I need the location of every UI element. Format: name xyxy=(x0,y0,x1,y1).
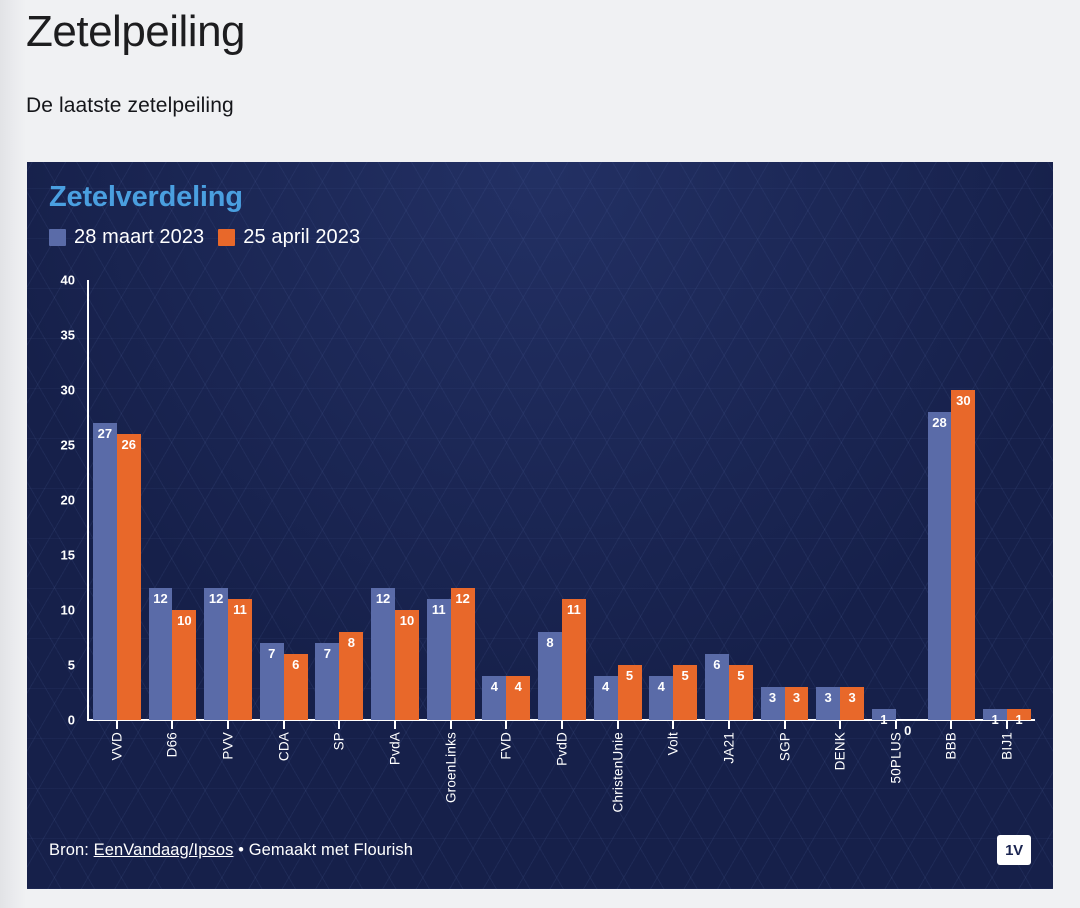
bar-series2[interactable]: 30 xyxy=(951,390,975,720)
x-axis-category-label: SGP xyxy=(777,732,792,761)
bar-value-label: 3 xyxy=(825,691,832,704)
x-axis-category-label: PVV xyxy=(221,732,236,760)
x-axis-category-label: VVD xyxy=(109,732,124,760)
bar-value-label: 11 xyxy=(432,603,446,616)
bar-group[interactable]: 33 xyxy=(812,280,868,720)
bar-series2[interactable]: 3 xyxy=(840,687,864,720)
bar-series1[interactable]: 7 xyxy=(315,643,339,720)
bar-value-label: 3 xyxy=(793,691,800,704)
x-axis-category-label: PvdD xyxy=(554,732,569,766)
brand-badge-1v: 1V xyxy=(997,835,1031,865)
page-title: Zetelpeiling xyxy=(26,6,1080,58)
chart-title: Zetelverdeling xyxy=(49,182,1031,214)
x-tick-mark xyxy=(839,721,841,729)
bar-series2[interactable]: 10 xyxy=(395,610,419,720)
x-tick-mark xyxy=(728,721,730,729)
bar-group[interactable]: 811 xyxy=(534,280,590,720)
bar-value-label: 6 xyxy=(292,658,299,671)
bar-series2[interactable]: 3 xyxy=(785,687,809,720)
bar-value-label: 12 xyxy=(455,592,469,605)
bar-value-label: 3 xyxy=(769,691,776,704)
bar-series1[interactable]: 4 xyxy=(649,676,673,720)
bar-series1[interactable]: 3 xyxy=(761,687,785,720)
x-tick xyxy=(979,721,1035,729)
x-tick-mark xyxy=(950,721,952,729)
x-axis-category-label: 50PLUS xyxy=(888,732,903,783)
bar-value-label: 5 xyxy=(682,669,689,682)
bar-value-label: 5 xyxy=(737,669,744,682)
bar-series1[interactable]: 12 xyxy=(204,588,228,720)
x-tick xyxy=(701,721,757,729)
bar-value-label: 12 xyxy=(209,592,223,605)
bar-series1[interactable]: 3 xyxy=(816,687,840,720)
x-axis-category-label: PvdA xyxy=(388,732,403,765)
y-axis: 4035302520151050 xyxy=(49,280,81,720)
bar-value-label: 5 xyxy=(626,669,633,682)
x-tick xyxy=(423,721,479,729)
bar-group[interactable]: 2726 xyxy=(89,280,145,720)
x-tick-mark xyxy=(227,721,229,729)
bar-value-label: 12 xyxy=(376,592,390,605)
x-axis-category-label: SP xyxy=(332,732,347,750)
x-tick-mark xyxy=(1006,721,1008,729)
y-axis-tick-label: 20 xyxy=(61,493,75,508)
x-axis-category-label: BIJ1 xyxy=(1000,732,1015,760)
bars-container: 2726121012117678121011124481145456533331… xyxy=(89,280,1035,720)
chart-legend: 28 maart 2023 25 april 2023 xyxy=(49,226,1031,249)
bar-value-label: 8 xyxy=(546,636,553,649)
x-tick-mark xyxy=(116,721,118,729)
bar-value-label: 7 xyxy=(324,647,331,660)
x-tick xyxy=(757,721,813,729)
bar-value-label: 11 xyxy=(233,603,247,616)
x-tick-mark xyxy=(338,721,340,729)
x-axis-category-label: BBB xyxy=(944,732,959,760)
x-tick xyxy=(89,721,145,729)
bar-series2[interactable]: 11 xyxy=(228,599,252,720)
bar-group[interactable]: 1112 xyxy=(423,280,479,720)
bar-series1[interactable]: 4 xyxy=(482,676,506,720)
y-axis-tick-label: 35 xyxy=(61,328,75,343)
x-tick-mark xyxy=(394,721,396,729)
legend-label-series2: 25 april 2023 xyxy=(243,226,360,249)
chart-card: Zetelverdeling 28 maart 2023 25 april 20… xyxy=(27,162,1053,889)
x-tick-mark xyxy=(617,721,619,729)
bar-value-label: 4 xyxy=(491,680,498,693)
bar-value-label: 10 xyxy=(177,614,191,627)
chart-source: Bron: EenVandaag/Ipsos • Gemaakt met Flo… xyxy=(49,841,413,860)
bar-value-label: 10 xyxy=(400,614,414,627)
legend-swatch-series2 xyxy=(218,229,235,246)
bar-series2[interactable]: 5 xyxy=(618,665,642,720)
bar-series2[interactable]: 12 xyxy=(451,588,475,720)
x-tick xyxy=(367,721,423,729)
bar-group[interactable]: 1210 xyxy=(367,280,423,720)
x-tick xyxy=(478,721,534,729)
bar-series2[interactable]: 26 xyxy=(117,434,141,720)
bar-value-label: 3 xyxy=(848,691,855,704)
bar-series2[interactable]: 10 xyxy=(172,610,196,720)
bar-value-label: 4 xyxy=(602,680,609,693)
bar-series2[interactable]: 5 xyxy=(729,665,753,720)
bar-value-label: 11 xyxy=(567,603,581,616)
bar-group[interactable]: 45 xyxy=(590,280,646,720)
bar-series2[interactable]: 6 xyxy=(284,654,308,720)
source-prefix: Bron: xyxy=(49,841,94,859)
bar-value-label: 26 xyxy=(122,438,136,451)
bar-value-label: 27 xyxy=(98,427,112,440)
bar-series1[interactable]: 27 xyxy=(93,423,117,720)
x-tick-mark xyxy=(895,721,897,729)
bar-series1[interactable]: 1 xyxy=(983,709,1007,720)
bar-group[interactable]: 1211 xyxy=(200,280,256,720)
bar-group[interactable]: 33 xyxy=(757,280,813,720)
x-tick-mark xyxy=(784,721,786,729)
source-link[interactable]: EenVandaag/Ipsos xyxy=(94,841,234,859)
plot-area-wrapper: 4035302520151050 27261210121176781210111… xyxy=(49,280,1041,880)
x-axis-category-label: Volt xyxy=(666,732,681,755)
bar-series1[interactable]: 11 xyxy=(427,599,451,720)
page-subtitle: De laatste zetelpeiling xyxy=(26,94,1080,118)
bar-value-label: 28 xyxy=(932,416,946,429)
x-tick-mark xyxy=(505,721,507,729)
bar-value-label: 4 xyxy=(515,680,522,693)
bar-group[interactable]: 65 xyxy=(701,280,757,720)
legend-label-series1: 28 maart 2023 xyxy=(74,226,204,249)
bar-series2[interactable]: 1 xyxy=(1007,709,1031,720)
x-axis-category-label: D66 xyxy=(165,732,180,757)
x-tick xyxy=(924,721,980,729)
x-tick-mark xyxy=(672,721,674,729)
legend-swatch-series1 xyxy=(49,229,66,246)
bar-group[interactable]: 45 xyxy=(645,280,701,720)
x-tick xyxy=(590,721,646,729)
y-axis-tick-label: 5 xyxy=(68,658,75,673)
bar-series2[interactable]: 5 xyxy=(673,665,697,720)
chart-footer: Bron: EenVandaag/Ipsos • Gemaakt met Flo… xyxy=(49,835,1031,865)
bar-series1[interactable]: 8 xyxy=(538,632,562,720)
x-tick xyxy=(145,721,201,729)
y-axis-tick-label: 0 xyxy=(68,713,75,728)
bar-value-label: 12 xyxy=(153,592,167,605)
x-tick xyxy=(812,721,868,729)
bar-group[interactable]: 2830 xyxy=(924,280,980,720)
x-axis-category-label: CDA xyxy=(276,732,291,761)
x-tick-mark xyxy=(561,721,563,729)
bar-group[interactable]: 76 xyxy=(256,280,312,720)
x-tick xyxy=(256,721,312,729)
bar-series1[interactable]: 12 xyxy=(149,588,173,720)
x-tick-marks xyxy=(89,721,1035,729)
bar-group[interactable]: 78 xyxy=(312,280,368,720)
x-axis-category-label: ChristenUnie xyxy=(610,732,625,812)
bar-value-label: 4 xyxy=(658,680,665,693)
x-tick-mark xyxy=(450,721,452,729)
x-axis-category-label: JA21 xyxy=(721,732,736,764)
y-axis-tick-label: 25 xyxy=(61,438,75,453)
source-suffix: • Gemaakt met Flourish xyxy=(233,841,413,859)
y-axis-tick-label: 40 xyxy=(61,273,75,288)
bar-group[interactable]: 44 xyxy=(478,280,534,720)
x-tick-mark xyxy=(283,721,285,729)
bar-series1[interactable]: 12 xyxy=(371,588,395,720)
legend-item-series2[interactable]: 25 april 2023 xyxy=(218,226,360,249)
y-axis-tick-label: 15 xyxy=(61,548,75,563)
bar-series1[interactable]: 1 xyxy=(872,709,896,720)
bar-series1[interactable]: 28 xyxy=(928,412,952,720)
bar-series2[interactable]: 11 xyxy=(562,599,586,720)
page-header: Zetelpeiling De laatste zetelpeiling xyxy=(0,0,1080,118)
bar-group[interactable]: 10 xyxy=(868,280,924,720)
x-tick xyxy=(868,721,924,729)
bar-series2[interactable]: 4 xyxy=(506,676,530,720)
y-axis-tick-label: 30 xyxy=(61,383,75,398)
legend-item-series1[interactable]: 28 maart 2023 xyxy=(49,226,204,249)
bar-group[interactable]: 1210 xyxy=(145,280,201,720)
bar-value-label: 7 xyxy=(268,647,275,660)
page-left-edge-shadow xyxy=(0,0,26,908)
y-axis-tick-label: 10 xyxy=(61,603,75,618)
bar-value-label: 6 xyxy=(713,658,720,671)
x-axis-category-label: DENK xyxy=(833,732,848,770)
x-tick-mark xyxy=(171,721,173,729)
x-tick xyxy=(312,721,368,729)
x-axis-category-label: GroenLinks xyxy=(443,732,458,803)
bar-value-label: 8 xyxy=(348,636,355,649)
bar-value-label: 30 xyxy=(956,394,970,407)
x-tick xyxy=(200,721,256,729)
x-tick xyxy=(645,721,701,729)
x-tick xyxy=(534,721,590,729)
bar-series1[interactable]: 7 xyxy=(260,643,284,720)
bar-series1[interactable]: 6 xyxy=(705,654,729,720)
bar-group[interactable]: 11 xyxy=(979,280,1035,720)
bar-series2[interactable]: 8 xyxy=(339,632,363,720)
x-axis-category-label: FVD xyxy=(499,732,514,760)
chart-inner: Zetelverdeling 28 maart 2023 25 april 20… xyxy=(27,162,1053,889)
bar-series1[interactable]: 4 xyxy=(594,676,618,720)
